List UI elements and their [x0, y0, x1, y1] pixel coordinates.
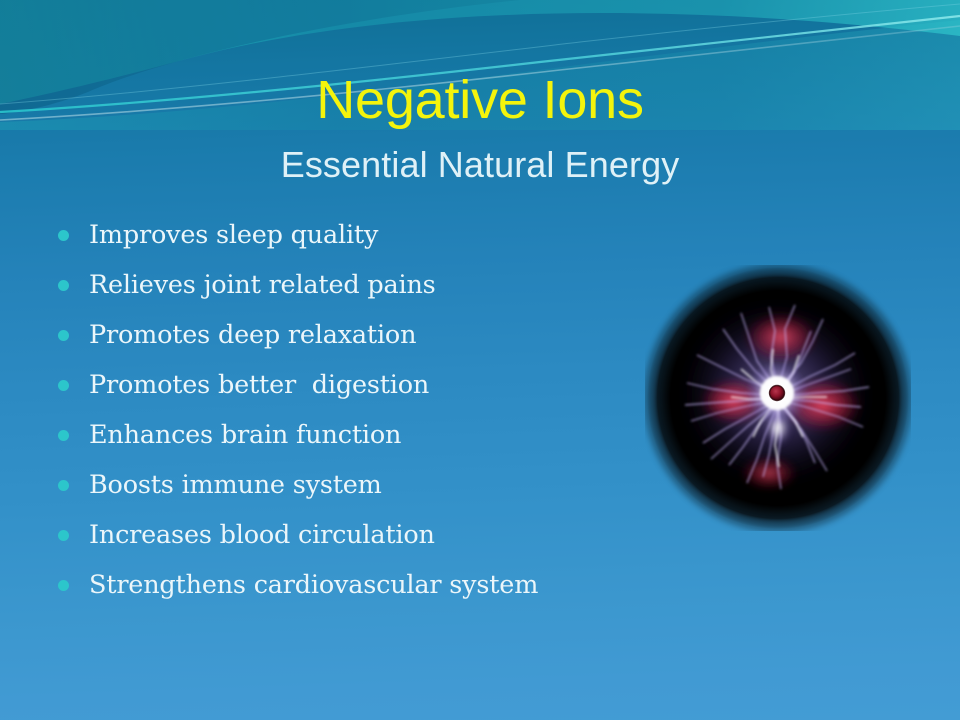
slide-subtitle: Essential Natural Energy [0, 143, 960, 187]
benefits-bullet-list: Improves sleep quality Relieves joint re… [55, 210, 675, 610]
list-item: Enhances brain function [55, 410, 675, 460]
presentation-slide: Negative Ions Essential Natural Energy I… [0, 0, 960, 720]
slide-title: Negative Ions [0, 70, 960, 130]
list-item: Promotes better digestion [55, 360, 675, 410]
plasma-ball-photo [645, 265, 911, 531]
list-item-label: Strengthens cardiovascular system [89, 570, 538, 600]
bullet-dot-icon [58, 430, 69, 441]
list-item: Improves sleep quality [55, 210, 675, 260]
list-item-label: Increases blood circulation [89, 520, 435, 550]
list-item: Relieves joint related pains [55, 260, 675, 310]
plasma-ball-graphic [645, 265, 911, 531]
list-item-label: Promotes deep relaxation [89, 320, 416, 350]
red-glow-top [743, 311, 819, 363]
red-glow-bottom [739, 455, 799, 491]
bullet-dot-icon [58, 480, 69, 491]
list-item-label: Improves sleep quality [89, 220, 378, 250]
list-item: Strengthens cardiovascular system [55, 560, 675, 610]
bullet-dot-icon [58, 530, 69, 541]
bullet-dot-icon [58, 580, 69, 591]
bullet-dot-icon [58, 230, 69, 241]
list-item-label: Relieves joint related pains [89, 270, 436, 300]
list-item-label: Enhances brain function [89, 420, 401, 450]
list-item: Boosts immune system [55, 460, 675, 510]
bullet-dot-icon [58, 280, 69, 291]
list-item-label: Promotes better digestion [89, 370, 429, 400]
bullet-dot-icon [58, 380, 69, 391]
bullet-dot-icon [58, 330, 69, 341]
list-item: Promotes deep relaxation [55, 310, 675, 360]
list-item: Increases blood circulation [55, 510, 675, 560]
list-item-label: Boosts immune system [89, 470, 382, 500]
